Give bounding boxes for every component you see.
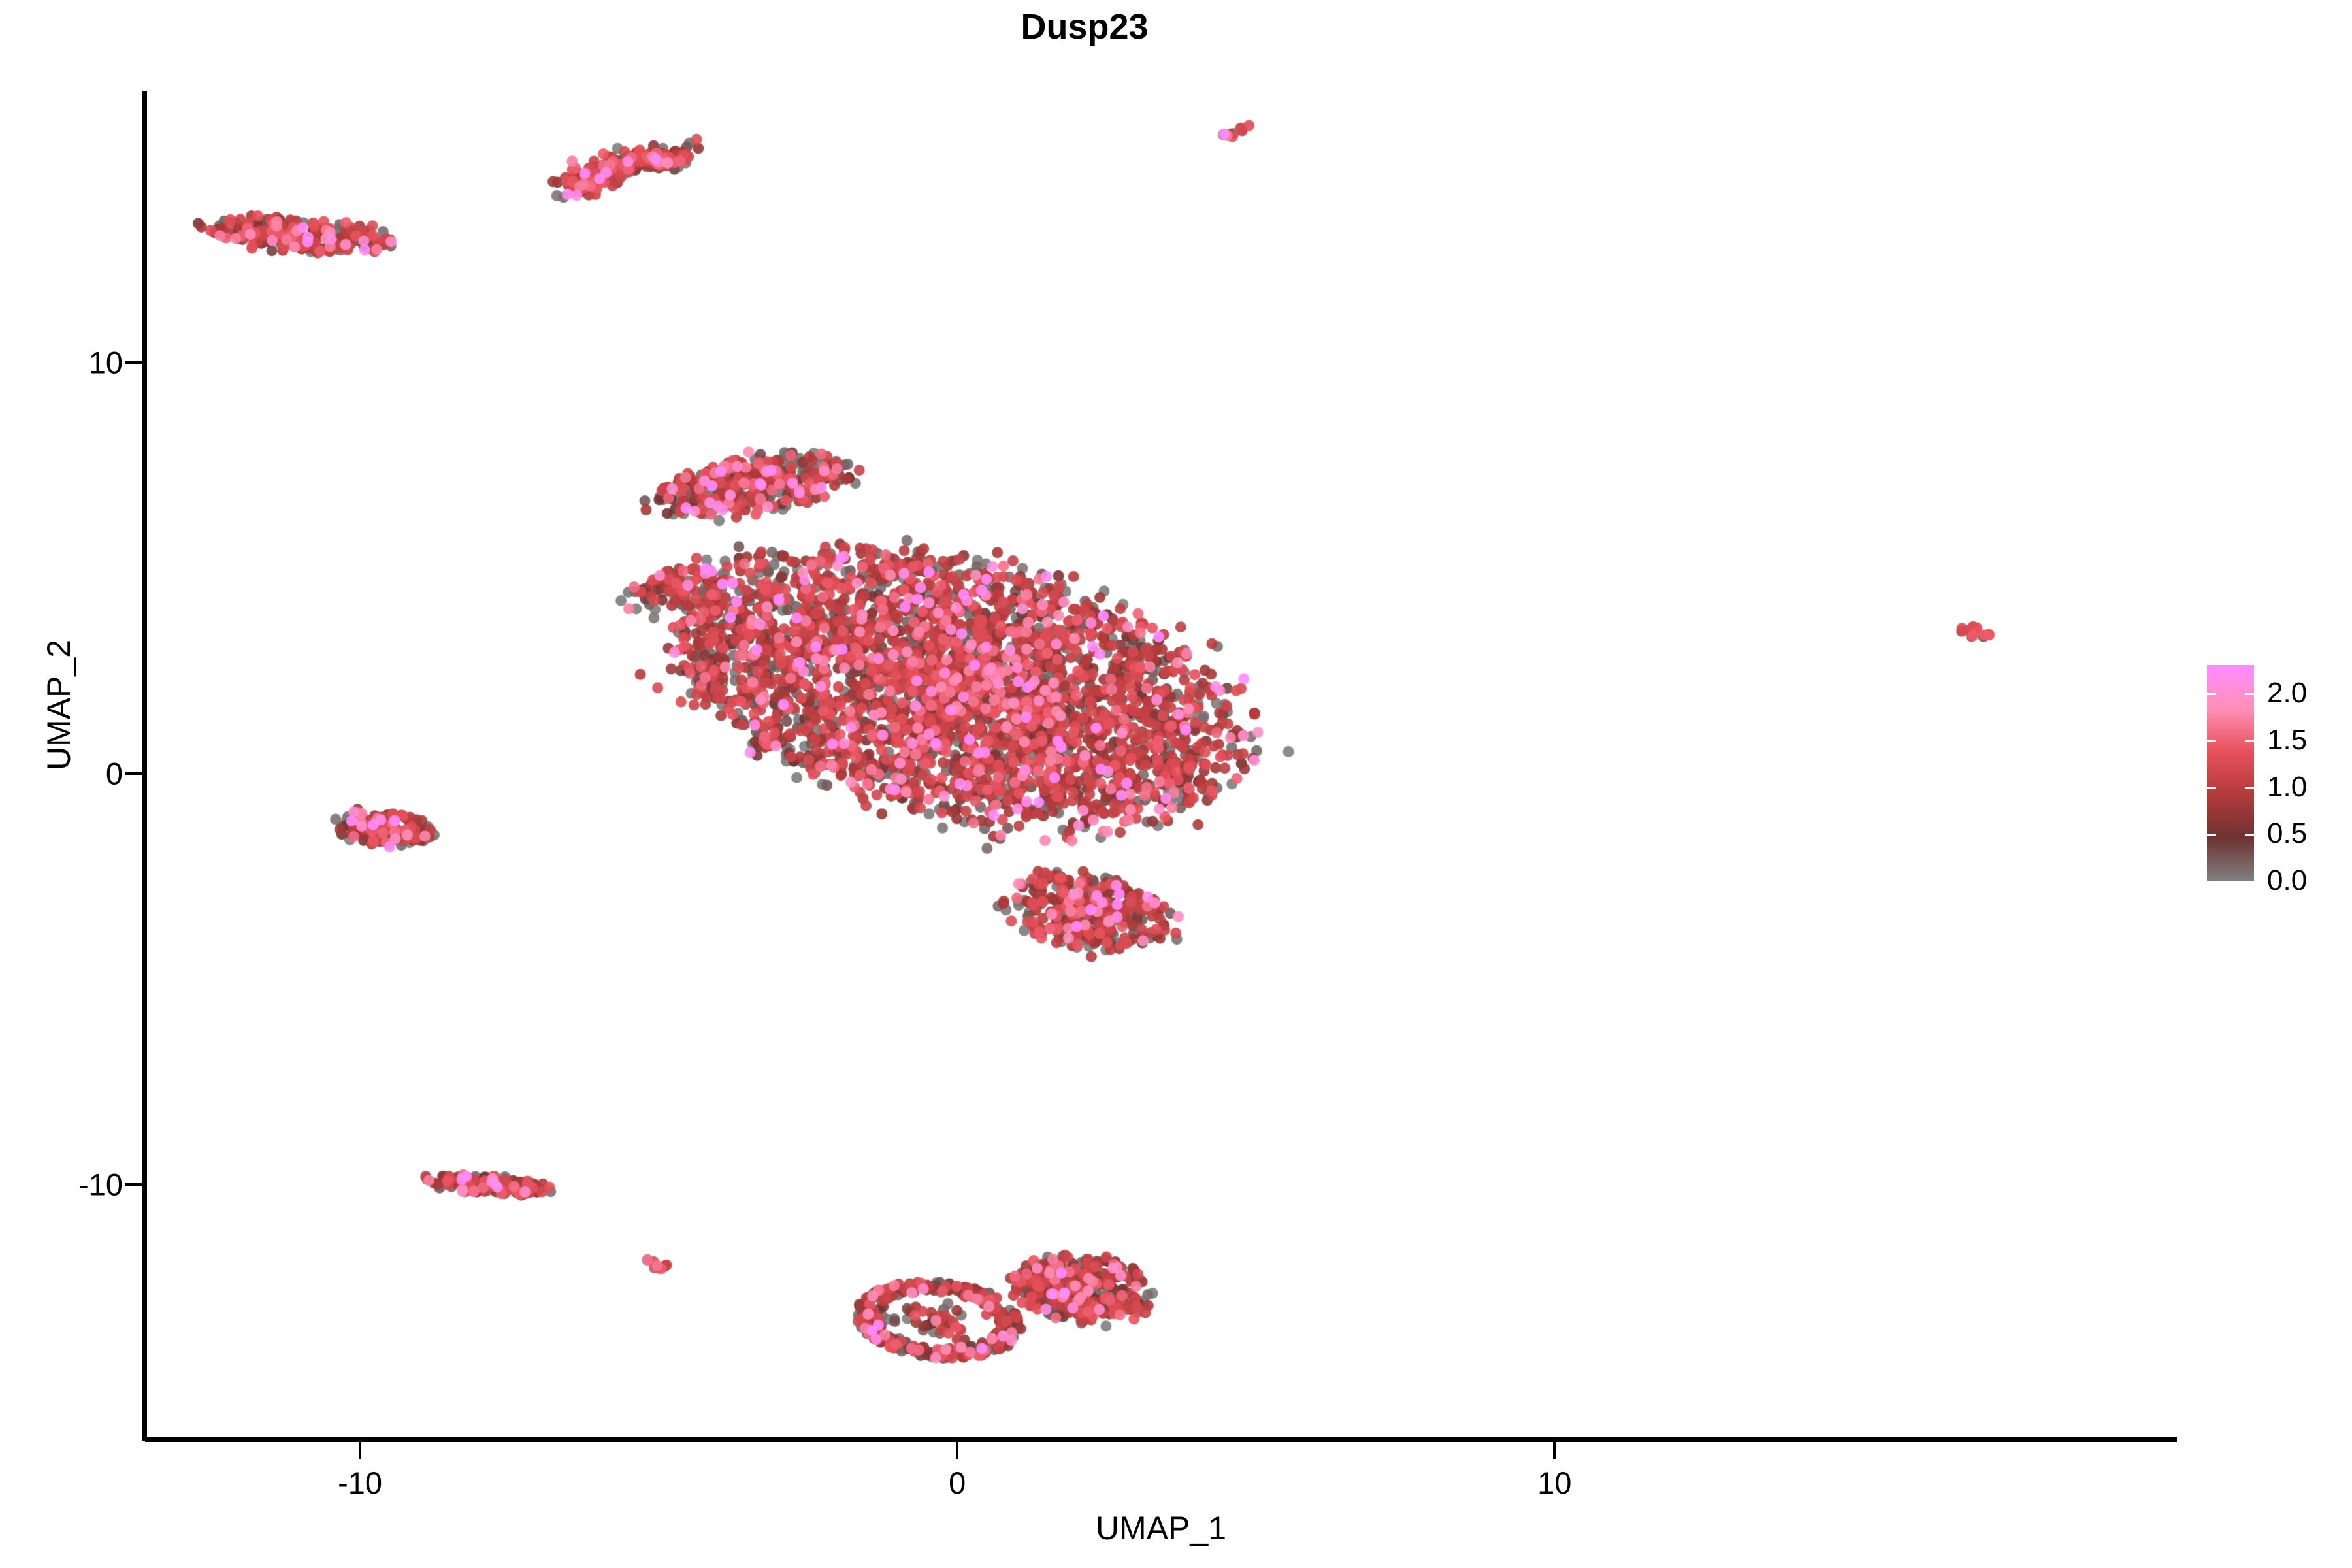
x-tick-label: 0 [892, 1465, 1022, 1501]
x-tick-mark [1553, 1442, 1556, 1459]
colorbar-tick-mark [2245, 740, 2254, 742]
y-tick-mark [125, 361, 142, 364]
x-tick-mark [359, 1442, 361, 1459]
y-axis-title: UMAP_2 [40, 476, 78, 934]
plot-panel [145, 91, 2176, 1439]
page-title: Dusp23 [0, 7, 2169, 47]
x-tick-label: -10 [295, 1465, 425, 1501]
colorbar-tick-mark [2207, 834, 2216, 836]
colorbar-tick-mark [2207, 787, 2216, 789]
y-tick-mark [125, 772, 142, 775]
x-axis-title: UMAP_1 [145, 1509, 2177, 1547]
colorbar-tick-mark [2245, 881, 2254, 883]
colorbar-label: 0.5 [2267, 817, 2307, 850]
colorbar-legend: 2.01.51.00.50.0 [2207, 665, 2344, 894]
x-tick-mark [956, 1442, 958, 1459]
colorbar-tick-mark [2245, 834, 2254, 836]
colorbar-tick-mark [2245, 787, 2254, 789]
colorbar-label: 2.0 [2267, 677, 2307, 710]
colorbar-label: 1.0 [2267, 771, 2307, 804]
y-tick-label: -10 [0, 1167, 123, 1203]
y-axis-line [142, 91, 147, 1441]
x-tick-label: 10 [1489, 1465, 1620, 1501]
x-axis-line [145, 1437, 2177, 1442]
umap-feature-plot: Dusp23 -10010 100-10 UMAP_1 UMAP_2 2.01.… [0, 0, 2352, 1568]
colorbar-label: 0.0 [2267, 864, 2307, 897]
colorbar-label: 1.5 [2267, 724, 2307, 757]
colorbar-tick-mark [2207, 881, 2216, 883]
colorbar-gradient [2207, 665, 2254, 881]
colorbar-tick-mark [2207, 693, 2216, 695]
colorbar-tick-mark [2245, 693, 2254, 695]
colorbar-tick-mark [2207, 740, 2216, 742]
y-tick-mark [125, 1183, 142, 1186]
y-tick-label: 10 [0, 345, 123, 381]
scatter-points-layer [145, 91, 2176, 1439]
